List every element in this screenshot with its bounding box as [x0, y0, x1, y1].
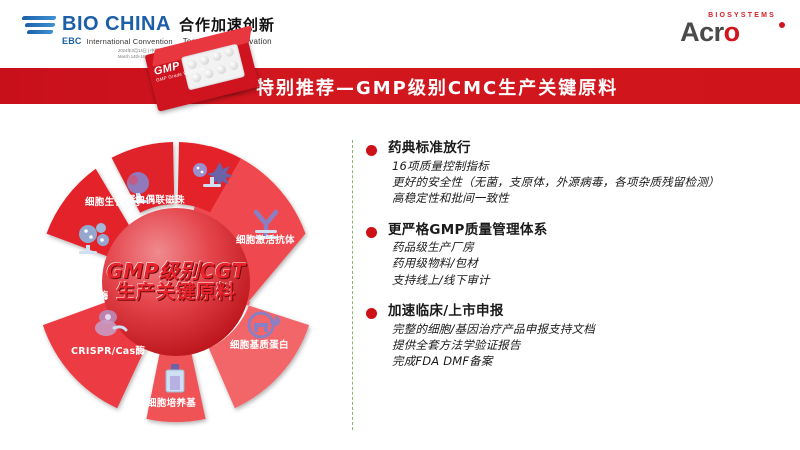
feature-block-filing: 加速临床/上市申报 完整的细胞/基因治疗产品申报支持文档 提供全套方法学验证报告… [366, 303, 786, 370]
feature-line: 支持线上/线下审计 [392, 272, 786, 288]
feature-line: 完成FDA DMF备案 [392, 353, 786, 369]
feature-line: 16项质量控制指标 [392, 158, 786, 174]
acro-dot-icon [779, 22, 785, 28]
wheel-center-line2: 生产关键原料 [116, 282, 236, 304]
feature-heading: 更严格GMP质量管理体系 [388, 222, 786, 240]
feature-heading: 药典标准放行 [388, 140, 786, 158]
ebc-mark: EBC [62, 36, 82, 46]
bullet-icon [366, 145, 377, 156]
wheel-center-text: GMP级别CGT 生产关键原料 [102, 222, 250, 342]
feature-line: 更好的安全性（无菌，支原体，外源病毒，各项杂质残留检测） [392, 174, 786, 190]
wheel-center-line1: GMP级别CGT [106, 261, 245, 282]
page-title: 特别推荐—GMP级别CMC生产关键原料 [256, 74, 618, 100]
feature-line: 药品级生产厂房 [392, 239, 786, 255]
feature-block-gmp-system: 更严格GMP质量管理体系 药品级生产厂房 药用级物料/包材 支持线上/线下审计 [366, 222, 786, 289]
wheel-label-antibody[interactable]: 细胞激活抗体 [236, 232, 295, 246]
feature-line: 完整的细胞/基因治疗产品申报支持文档 [392, 321, 786, 337]
feature-heading: 加速临床/上市申报 [388, 303, 786, 321]
wheel-label-nuclease[interactable]: 耐盐全能核酸酶 [40, 288, 109, 302]
wheel-label-culture-media[interactable]: 细胞培养基 [147, 395, 196, 409]
wheel-label-growth-factor[interactable]: 细胞生长因子 [85, 194, 144, 208]
feature-block-pharmacopeia: 药典标准放行 16项质量控制指标 更好的安全性（无菌，支原体，外源病毒，各项杂质… [366, 140, 786, 207]
header: BIO CHINA合作加速创新 EBCInternational Convent… [0, 0, 800, 68]
bullet-icon [366, 308, 377, 319]
feature-list: 药典标准放行 16项质量控制指标 更好的安全性（无菌，支原体，外源病毒，各项杂质… [366, 140, 786, 385]
wheel-label-matrix-protein[interactable]: 细胞基质蛋白 [230, 337, 289, 351]
acro-biosystems-logo: BIOSYSTEMS Acro [680, 12, 776, 46]
gmp-cgt-wheel: GMP级别CGT 生产关键原料 蛋白偶联磁珠 细胞激活抗体 细胞基质蛋白 细胞培… [26, 136, 326, 428]
feature-line: 提供全套方法学验证报告 [392, 337, 786, 353]
vertical-dashed-divider [352, 140, 353, 430]
bio-china-wave-icon [22, 16, 56, 42]
acro-wordmark-red-o: o [724, 17, 740, 47]
acro-wordmark-grey: Acr [680, 17, 724, 47]
product-photo: GMP GMP Grade Reagents [140, 36, 270, 110]
bullet-icon [366, 227, 377, 238]
slide-root: BIO CHINA合作加速创新 EBCInternational Convent… [0, 0, 800, 450]
feature-line: 高稳定性和批间一致性 [392, 190, 786, 206]
bio-china-brand-en: BIO CHINA [62, 13, 171, 35]
feature-line: 药用级物料/包材 [392, 255, 786, 271]
wheel-label-crispr-enzyme[interactable]: CRISPR/Cas酶 [71, 343, 145, 357]
acro-wordmark: Acro [680, 19, 776, 46]
